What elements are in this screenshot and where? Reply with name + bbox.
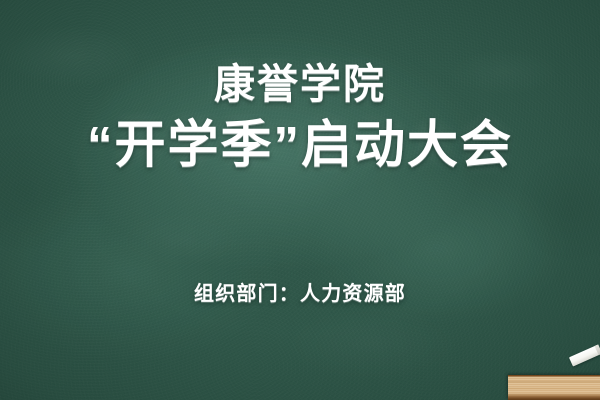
slide-subtitle: 组织部门：人力资源部 [0,277,600,306]
title-line-1: 康誉学院 [0,62,600,108]
slide-title: 康誉学院 “开学季”启动大会 [0,62,600,173]
presentation-slide: 康誉学院 “开学季”启动大会 组织部门：人力资源部 [0,0,600,400]
title-line-2: “开学季”启动大会 [0,116,600,173]
chalk-tray-icon [508,375,600,400]
wood-grain-texture [508,375,600,400]
slide-content: 康誉学院 “开学季”启动大会 组织部门：人力资源部 [0,0,600,400]
